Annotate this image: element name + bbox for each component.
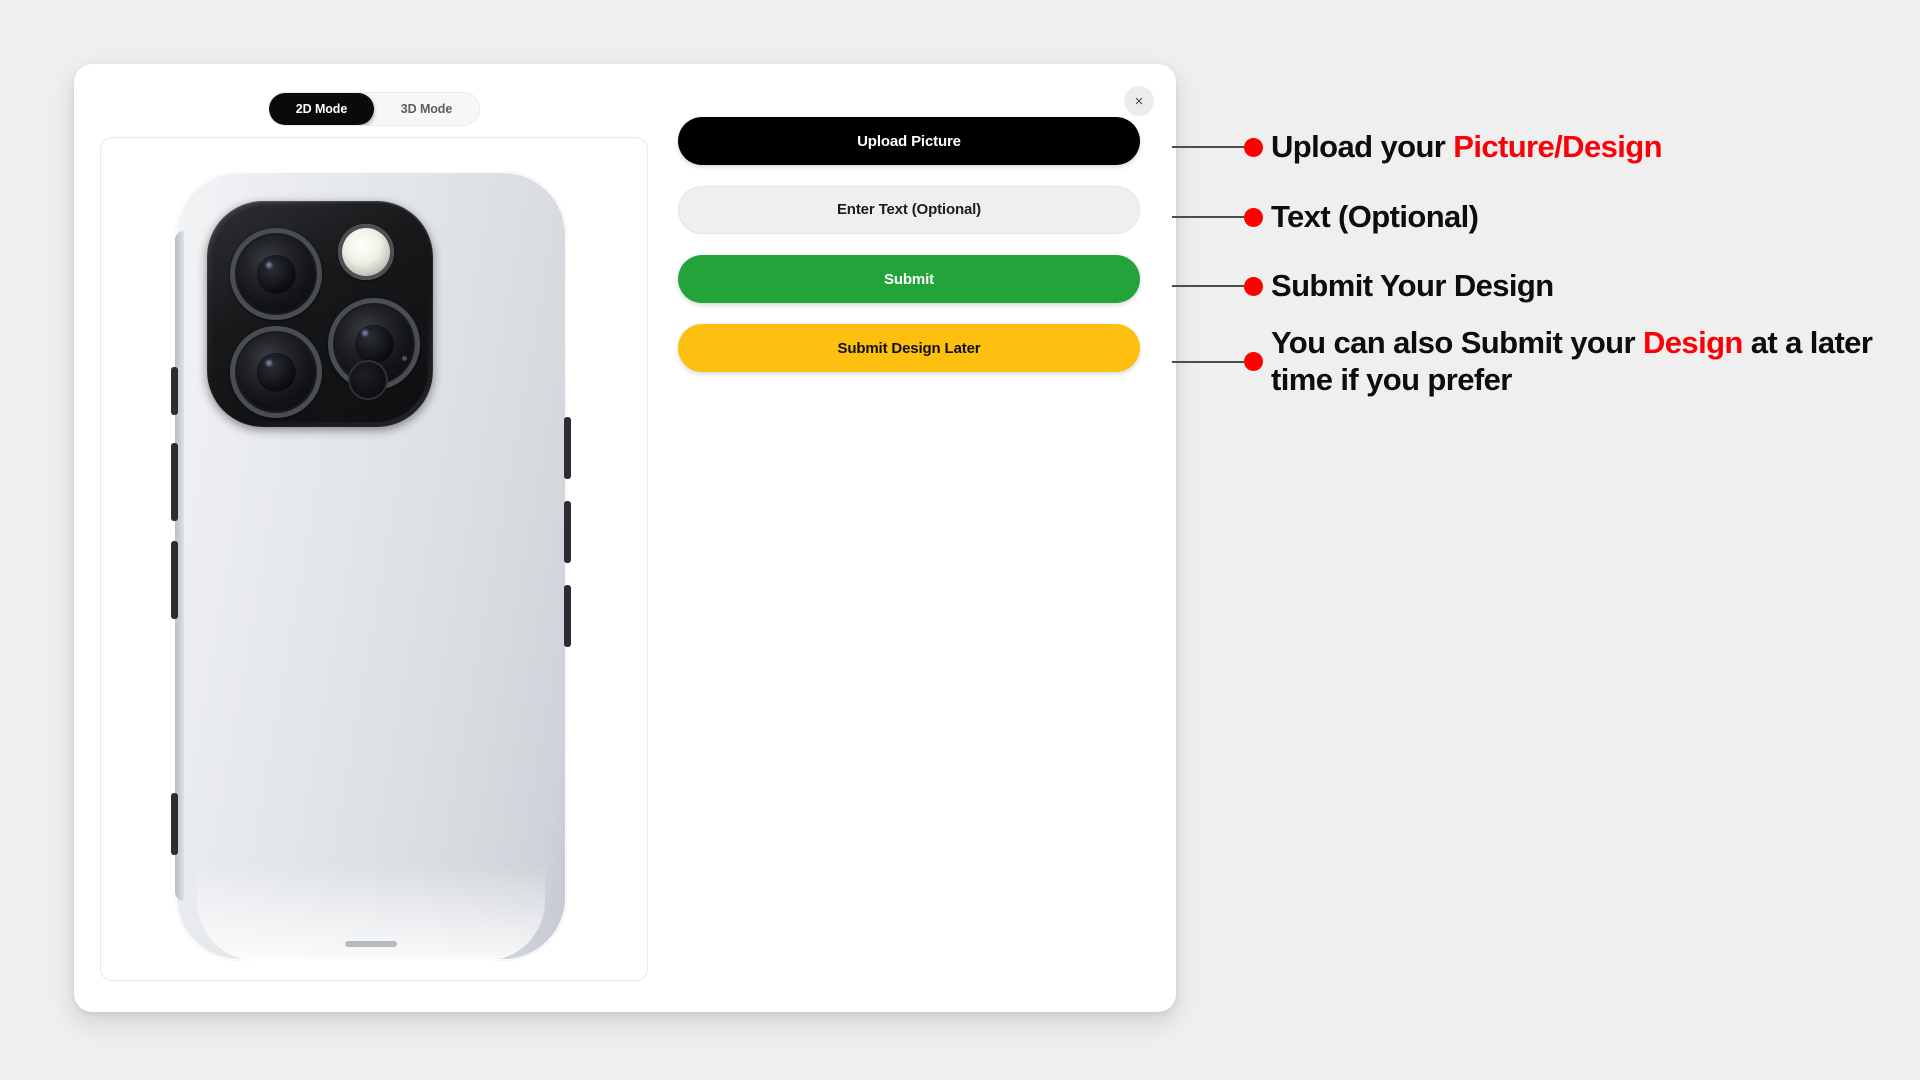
submit-design-later-button[interactable]: Submit Design Later xyxy=(678,324,1140,372)
leader-line xyxy=(1172,361,1244,363)
product-preview-pane[interactable] xyxy=(100,137,648,981)
annotation-submit-later: You can also Submit your Design at a lat… xyxy=(1172,325,1891,398)
microphone-dot-icon xyxy=(402,356,407,361)
camera-module xyxy=(207,201,433,427)
mode-toggle-group[interactable]: 2D Mode 3D Mode xyxy=(268,92,480,126)
mode-toggle-3d[interactable]: 3D Mode xyxy=(374,93,479,125)
annotation-upload: Upload your Picture/Design xyxy=(1172,129,1662,166)
camera-lens-inner xyxy=(355,325,394,364)
mode-toggle-2d[interactable]: 2D Mode xyxy=(269,93,374,125)
side-cutout-lower-icon xyxy=(564,585,571,647)
lens-reflection xyxy=(266,360,272,366)
annotation-highlight: Design xyxy=(1643,325,1743,360)
leader-line xyxy=(1172,146,1244,148)
camera-lens-inner xyxy=(257,353,296,392)
camera-lens-ultrawide-icon xyxy=(230,326,322,418)
annotation-dot-icon xyxy=(1244,352,1263,371)
screenshot-stage: 2D Mode 3D Mode × xyxy=(0,0,1920,1080)
annotation-submit-text: Submit Your Design xyxy=(1271,268,1554,305)
annotation-upload-text: Upload your Picture/Design xyxy=(1271,129,1662,166)
side-cutout-icon xyxy=(564,501,571,563)
phone-case-render xyxy=(175,171,567,961)
annotation-submit: Submit Your Design xyxy=(1172,268,1554,305)
phone-speaker-cutout-icon xyxy=(345,941,397,947)
lens-reflection xyxy=(362,330,368,336)
design-form: Upload Picture Enter Text (Optional) Sub… xyxy=(678,117,1140,393)
close-modal-button[interactable]: × xyxy=(1124,86,1154,116)
power-button-icon xyxy=(564,417,571,479)
annotation-submit-later-text: You can also Submit your Design at a lat… xyxy=(1271,325,1891,398)
lidar-sensor-icon xyxy=(348,360,388,400)
annotation-dot-icon xyxy=(1244,277,1263,296)
annotation-dot-icon xyxy=(1244,138,1263,157)
submit-button[interactable]: Submit xyxy=(678,255,1140,303)
enter-text-input[interactable]: Enter Text (Optional) xyxy=(678,186,1140,234)
lower-side-cutout-icon xyxy=(171,793,178,855)
leader-line xyxy=(1172,216,1244,218)
annotation-text: Text (Optional) xyxy=(1172,199,1478,236)
camera-module-inner xyxy=(212,206,428,422)
annotation-text-text: Text (Optional) xyxy=(1271,199,1478,236)
annotation-highlight: Picture/Design xyxy=(1453,129,1662,164)
design-upload-modal: 2D Mode 3D Mode × xyxy=(74,64,1176,1012)
camera-lens-inner xyxy=(257,255,296,294)
volume-down-button-icon xyxy=(171,541,178,619)
lens-reflection xyxy=(266,262,272,268)
close-icon: × xyxy=(1135,94,1144,109)
camera-lens-wide-icon xyxy=(230,228,322,320)
volume-up-button-icon xyxy=(171,443,178,521)
action-button-icon xyxy=(171,367,178,415)
upload-picture-button[interactable]: Upload Picture xyxy=(678,117,1140,165)
leader-line xyxy=(1172,285,1244,287)
annotation-dot-icon xyxy=(1244,208,1263,227)
camera-flash-icon xyxy=(338,224,394,280)
